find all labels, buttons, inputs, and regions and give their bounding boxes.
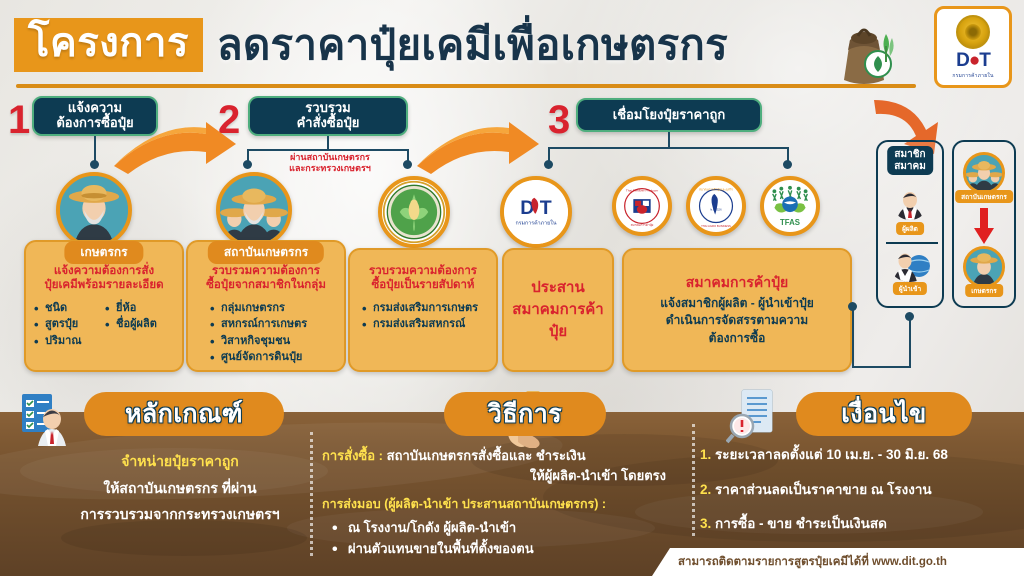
svg-text:TFAS: TFAS: [780, 218, 800, 227]
member-panel-title: สมาชิก สมาคม: [887, 146, 933, 175]
association-body-line2: ดำเนินการจัดสรรตามความ: [660, 312, 814, 329]
method-delivery-bullets: ณ โรงงาน/โกดัง ผู้ผลิต-นำเข้า ผ่านตัวแทน…: [322, 518, 678, 560]
flow-panel: สถาบันเกษตรกร เกษตรกร: [952, 140, 1016, 308]
card-ministry-head-line1: รวบรวมความต้องการ: [358, 264, 488, 278]
card-ministry-bullets: กรมส่งเสริมการเกษตร กรมส่งเสริมสหกรณ์: [362, 300, 488, 333]
farmer-circle-icon: [963, 246, 1005, 288]
dit-logo-text: D●T: [956, 51, 990, 70]
connector-member-down: [909, 316, 911, 368]
criteria-line3: การรวบรวมจากกระทรวงเกษตรฯ: [30, 501, 330, 528]
divider-method-conditions: [692, 424, 695, 536]
association-head: สมาคมการค้าปุ๋ย: [686, 273, 788, 291]
producer-avatar: [893, 190, 927, 220]
criteria-line2: ให้สถาบันเกษตรกร ที่ผ่าน: [30, 475, 330, 502]
importer-tag: ผู้นำเข้า: [893, 282, 927, 295]
criteria-text: จำหน่ายปุ๋ยราคาถูก ให้สถาบันเกษตรกร ที่ผ…: [30, 448, 330, 528]
list-item: ณ โรงงาน/โกดัง ผู้ผลิต-นำเข้า: [322, 518, 678, 539]
card-farmer-head-line2: ปุ๋ยเคมีพร้อมรายละเอียด: [34, 278, 174, 292]
card-farmer-tab: เกษตรกร: [64, 241, 143, 264]
card-institution-bullets: กลุ่มเกษตรกร สหกรณ์การเกษตร วิสาหกิจชุมช…: [210, 300, 336, 366]
title-badge: โครงการ: [14, 18, 203, 72]
card-farmer-institution: สถาบันเกษตรกร รวบรวมความต้องการ ซื้อปุ๋ย…: [186, 240, 346, 372]
condition-1-text: ระยะเวลาลดตั้งแต่ 10 เม.ย. - 30 มิ.ย. 68: [715, 447, 948, 462]
panel-divider: [886, 242, 938, 244]
svg-text:กรมการค้าภายใน: กรมการค้าภายใน: [515, 219, 556, 226]
list-item: กรมส่งเสริมสหกรณ์: [362, 316, 488, 333]
step-2-label-line1: รวบรวม: [297, 101, 360, 116]
card-institution-head-line1: รวบรวมความต้องการ: [196, 264, 336, 278]
list-item: ชื่อผู้ผลิต: [105, 316, 174, 333]
section-title-method: วิธีการ: [444, 392, 606, 436]
list-item: ผ่านตัวแทนขายในพื้นที่ตั้งของตน: [322, 539, 678, 560]
via-note: ผ่านสถาบันเกษตรกร และกระทรวงเกษตรฯ: [262, 152, 398, 174]
method-order-label: การสั่งซื้อ :: [322, 448, 383, 463]
coordinate-line2: สมาคมการค้าปุ๋ย: [504, 299, 612, 343]
step-number-1: 1: [8, 100, 30, 140]
criteria-line1: จำหน่ายปุ๋ยราคาถูก: [30, 448, 330, 475]
flow-arrow-2-to-3: [412, 118, 544, 180]
member-panel: สมาชิก สมาคม ผู้ผลิต ผู้นำเข้า: [876, 140, 944, 308]
connector-member-left: [852, 366, 910, 368]
thai-agro-business-association-logo: สมาคมการค้าปุ๋ยและธุรกิจ พ.ศ.2526 THAI A…: [686, 176, 746, 236]
via-note-line2: และกระทรวงเกษตรฯ: [262, 163, 398, 174]
title-main: ลดราคาปุ๋ยเคมีเพื่อเกษตรกร: [217, 23, 728, 67]
association-body-line1: แจ้งสมาชิกผู้ผลิต - ผู้นำเข้าปุ๋ย: [660, 295, 814, 312]
list-item: 2. ราคาส่วนลดเป็นราคาขาย ณ โรงงาน: [700, 479, 1020, 501]
condition-1-num: 1.: [700, 447, 711, 462]
card-farmer: เกษตรกร แจ้งความต้องการสั่ง ปุ๋ยเคมีพร้อ…: [24, 240, 184, 372]
list-item: วิสาหกิจชุมชน: [210, 333, 336, 350]
dit-agency-subtitle: กรมการค้าภายใน: [952, 72, 993, 80]
method-order-line1: สถาบันเกษตรกรสั่งซื้อและ ชำระเงิน: [387, 448, 586, 463]
connector-step2-stem: [327, 136, 329, 150]
page-title: โครงการ ลดราคาปุ๋ยเคมีเพื่อเกษตรกร: [14, 18, 728, 72]
condition-2-text: ราคาส่วนลดเป็นราคาขาย ณ โรงงาน: [715, 482, 932, 497]
node-dot-step1: [90, 160, 99, 169]
card-ministry: รวบรวมความต้องการ ซื้อปุ๋ยเป็นรายสัปดาห์…: [348, 248, 498, 372]
list-item: สูตรปุ๋ย: [34, 316, 103, 333]
importer-avatar: [890, 250, 930, 282]
institution-circle-icon: [963, 152, 1005, 194]
condition-3-num: 3.: [700, 516, 711, 531]
card-institution-tab: สถาบันเกษตรกร: [208, 241, 324, 264]
card-institution-head-line2: ซื้อปุ๋ยจากสมาชิกในกลุ่ม: [196, 278, 336, 292]
svg-text:THAI AGRO BUSINESS: THAI AGRO BUSINESS: [701, 224, 731, 228]
conditions-list: 1. ระยะเวลาลดตั้งแต่ 10 เม.ย. - 30 มิ.ย.…: [700, 444, 1020, 548]
condition-3-text: การซื้อ - ขาย ชำระเป็นเงินสด: [715, 516, 887, 531]
list-item: สหกรณ์การเกษตร: [210, 316, 336, 333]
list-item: กลุ่มเกษตรกร: [210, 300, 336, 317]
farmer-group-avatar: [216, 172, 292, 248]
footer-bar: สามารถติดตามรายการสูตรปุ๋ยเคมีได้ที่ www…: [652, 548, 1024, 576]
coordinate-line1: ประสาน: [504, 277, 612, 299]
list-item: ปริมาณ: [34, 333, 103, 350]
via-note-line1: ผ่านสถาบันเกษตรกร: [262, 152, 398, 163]
farmer-tag: เกษตรกร: [965, 284, 1003, 297]
list-item: 3. การซื้อ - ขาย ชำระเป็นเงินสด: [700, 513, 1020, 535]
node-dot-step2-right: [403, 160, 412, 169]
card-association: สมาคมการค้าปุ๋ย แจ้งสมาชิกผู้ผลิต - ผู้น…: [622, 248, 852, 372]
red-down-arrow-icon: [972, 208, 996, 244]
connector-assoc-down: [852, 306, 854, 366]
moac-seal-icon: [378, 176, 450, 248]
farmer-avatar: [56, 172, 132, 248]
member-title-line1: สมาชิก: [894, 149, 926, 161]
member-title-line2: สมาคม: [894, 161, 926, 173]
institution-tag: สถาบันเกษตรกร: [955, 190, 1013, 203]
card-farmer-bullets: ชนิด ยี่ห้อ สูตรปุ๋ย ชื่อผู้ผลิต ปริมาณ: [34, 300, 174, 350]
step-pill-3[interactable]: เชื่อมโยงปุ๋ยราคาถูก: [576, 98, 762, 132]
tfas-logo: TFAS: [760, 176, 820, 236]
garuda-seal-icon: [956, 15, 990, 49]
list-item: ชนิด: [34, 300, 103, 317]
section-title-criteria: หลักเกณฑ์: [84, 392, 284, 436]
node-dot-step3-right: [783, 160, 792, 169]
card-farmer-head-line1: แจ้งความต้องการสั่ง: [34, 264, 174, 278]
dit-agency-badge: D●T กรมการค้าภายใน: [934, 6, 1012, 88]
document-magnifier-alert-icon: [726, 388, 780, 446]
step-pill-2[interactable]: รวบรวม คำสั่งซื้อปุ๋ย: [248, 96, 408, 136]
infographic-page: โครงการ ลดราคาปุ๋ยเคมีเพื่อเกษตรกร D●T ก…: [0, 0, 1024, 576]
card-coordinate: ประสาน สมาคมการค้าปุ๋ย: [502, 248, 614, 372]
svg-text:Thai Fertilizer Producer: Thai Fertilizer Producer: [626, 188, 658, 192]
thai-fertilizer-producer-trade-association-logo: Thai Fertilizer Producer สมาคมการค้าปุ๋ย: [612, 176, 672, 236]
checklist-person-icon: [18, 390, 70, 446]
node-dot-step2-left: [243, 160, 252, 169]
step-2-label-line2: คำสั่งซื้อปุ๋ย: [297, 116, 360, 131]
list-item: ยี่ห้อ: [105, 300, 174, 317]
title-underline: [16, 84, 916, 88]
footer-text: สามารถติดตามรายการสูตรปุ๋ยเคมีได้ที่ www…: [678, 553, 947, 571]
header: โครงการ ลดราคาปุ๋ยเคมีเพื่อเกษตรกร D●T ก…: [0, 0, 1024, 95]
flow-arrow-1-to-2: [110, 118, 240, 180]
divider-criteria-method: [310, 432, 313, 556]
dit-logo-icon: D T กรมการค้าภายใน: [500, 176, 572, 248]
producer-tag: ผู้ผลิต: [896, 222, 924, 235]
connector-step2-bar: [247, 149, 409, 151]
association-body-line3: ต้องการซื้อ: [660, 330, 814, 347]
method-content: การสั่งซื้อ : สถาบันเกษตรกรสั่งซื้อและ ช…: [322, 446, 678, 559]
section-title-conditions: เงื่อนไข: [796, 392, 972, 436]
condition-2-num: 2.: [700, 482, 711, 497]
step-1-label-line1: แจ้งความ: [56, 101, 133, 116]
fertilizer-bag-icon: [828, 16, 902, 88]
card-ministry-head-line2: ซื้อปุ๋ยเป็นรายสัปดาห์: [358, 278, 488, 292]
connector-step3-bar: [548, 147, 788, 149]
method-delivery-label: การส่งมอบ (ผู้ผลิต-นำเข้า ประสานสถาบันเก…: [322, 495, 678, 514]
method-order-line2: ให้ผู้ผลิต-นำเข้า โดยตรง: [322, 466, 678, 486]
list-item: กรมส่งเสริมการเกษตร: [362, 300, 488, 317]
list-item: ศูนย์จัดการดินปุ๋ย: [210, 349, 336, 366]
node-dot-step3-left: [544, 160, 553, 169]
step-number-3: 3: [548, 100, 570, 140]
list-item: 1. ระยะเวลาลดตั้งแต่ 10 เม.ย. - 30 มิ.ย.…: [700, 444, 1020, 466]
connector-step3-stem: [668, 132, 670, 148]
step-3-label: เชื่อมโยงปุ๋ยราคาถูก: [613, 108, 725, 123]
svg-text:พ.ศ.2526: พ.ศ.2526: [710, 207, 722, 211]
